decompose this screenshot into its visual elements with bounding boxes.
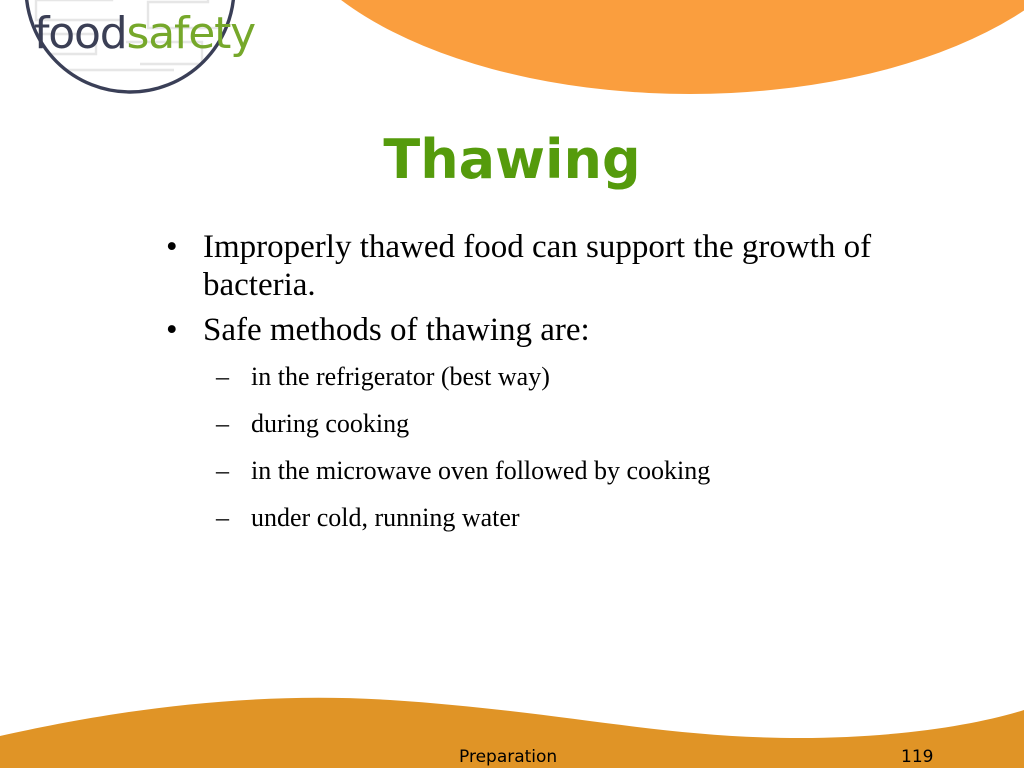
bullet-marker-icon: • [166,311,178,349]
bullet-text: Improperly thawed food can support the g… [203,229,871,303]
bullet-item: • Improperly thawed food can support the… [158,228,948,305]
sub-bullet-text: in the microwave oven followed by cookin… [251,456,710,485]
page-title: Thawing [0,132,1024,189]
dash-marker-icon: – [216,455,229,486]
footer-section-label: Preparation [459,748,557,767]
sub-bullet-item: – in the microwave oven followed by cook… [158,455,948,486]
sub-bullet-item: – in the refrigerator (best way) [158,361,948,392]
logo-word-safety: safety [126,8,255,59]
slide-canvas: foodsafety Thawing • Improperly thawed f… [0,0,1024,768]
sub-bullet-list: – in the refrigerator (best way) – durin… [158,361,948,534]
logo-wordmark: foodsafety [34,12,255,56]
dash-marker-icon: – [216,502,229,533]
logo-container: foodsafety [0,0,340,105]
sub-bullet-item: – under cold, running water [158,502,948,533]
slide-body: • Improperly thawed food can support the… [158,228,948,550]
sub-bullet-text: under cold, running water [251,503,520,532]
sub-bullet-text: in the refrigerator (best way) [251,362,550,391]
dash-marker-icon: – [216,361,229,392]
orange-ellipse-shape [270,0,1024,94]
footer-page-number: 119 [901,748,933,767]
bullet-item: • Safe methods of thawing are: [158,311,948,349]
dash-marker-icon: – [216,408,229,439]
logo-word-food: food [34,8,126,59]
bullet-text: Safe methods of thawing are: [203,312,590,348]
bullet-marker-icon: • [166,228,178,266]
sub-bullet-item: – during cooking [158,408,948,439]
sub-bullet-text: during cooking [251,409,409,438]
